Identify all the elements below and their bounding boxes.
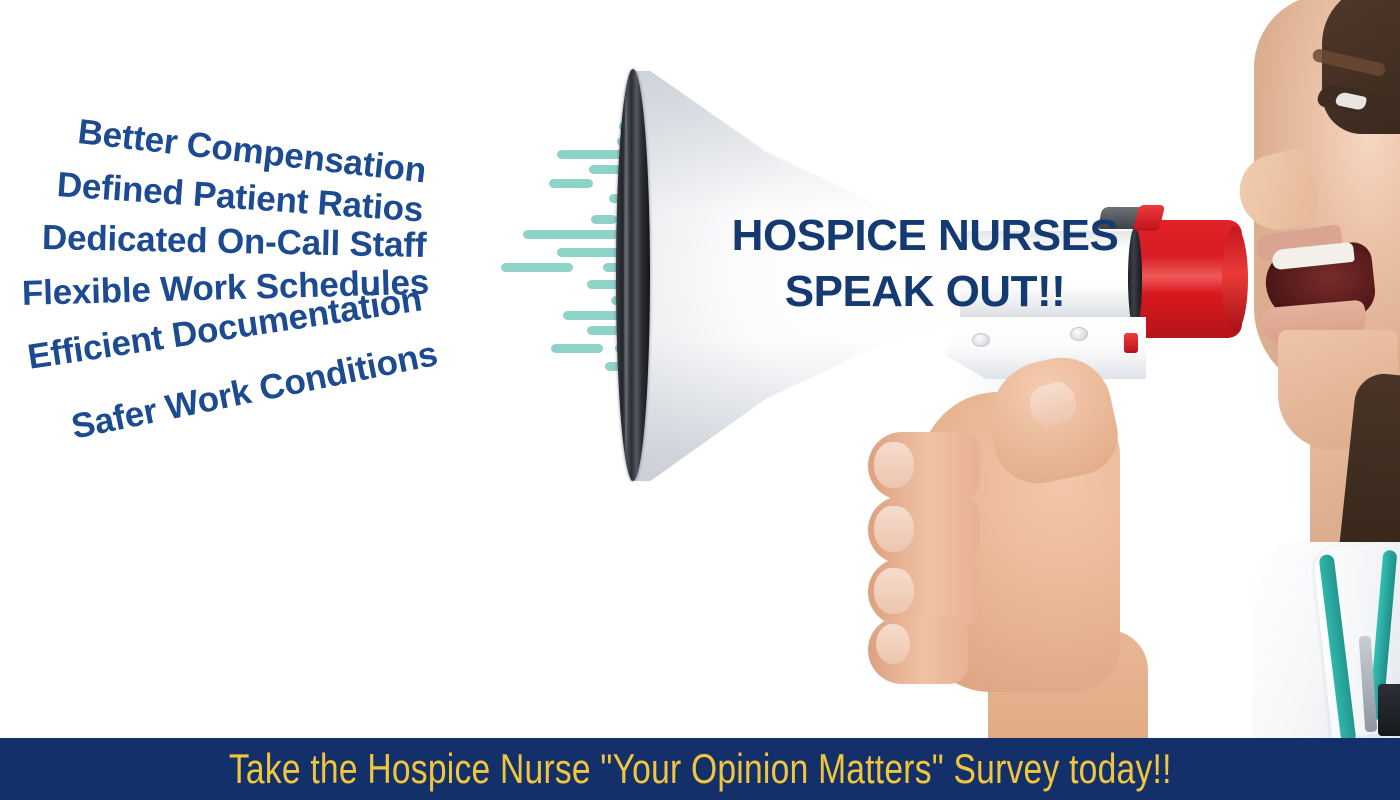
soundwave-bar-17	[551, 344, 603, 353]
megaphone-rim	[616, 69, 650, 481]
megaphone-barrel	[960, 231, 1135, 323]
megaphone-dark-ring	[1128, 227, 1142, 330]
fingernail-pinky	[876, 624, 910, 664]
survey-call-to-action-banner[interactable]: Take the Hospice Nurse "Your Opinion Mat…	[0, 738, 1400, 800]
soundwave-bar-4	[549, 179, 593, 188]
fingernail-middle	[874, 506, 914, 552]
pocket-pen-cap	[1378, 684, 1400, 736]
megaphone-rim-highlight	[624, 95, 628, 455]
bracket-screw-right	[1070, 327, 1088, 341]
banner-text: Take the Hospice Nurse "Your Opinion Mat…	[229, 745, 1172, 793]
slogan-list: Better Compensation Defined Patient Rati…	[0, 86, 500, 496]
fingernail-index	[874, 442, 914, 488]
hand-gripping-megaphone	[860, 340, 1190, 740]
nurse-shouting	[1226, 0, 1400, 740]
fingernail-ring	[874, 568, 914, 614]
soundwave-bar-11	[501, 263, 573, 272]
poster-canvas: Better Compensation Defined Patient Rati…	[0, 0, 1400, 800]
slogan-dedicated-on-call-staff: Dedicated On-Call Staff	[42, 218, 427, 266]
